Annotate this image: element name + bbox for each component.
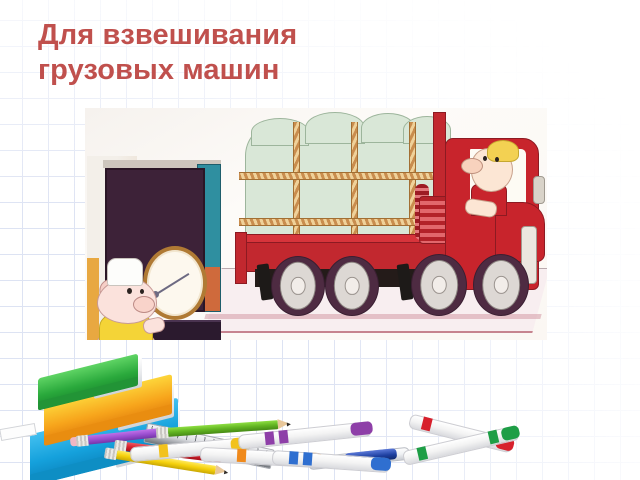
rope-vertical: [293, 122, 300, 248]
truck-wheel: [473, 254, 529, 316]
pencil-lead: [287, 422, 291, 426]
list-item: [38, 366, 138, 398]
rope-vertical: [351, 122, 358, 248]
pig-chef-hat: [107, 258, 143, 286]
marker-band: [303, 452, 313, 466]
wheel-hub: [280, 262, 316, 310]
marker-band: [488, 430, 500, 445]
pencil-ferrule: [156, 427, 169, 439]
truck-wheel: [271, 256, 325, 316]
truck-rear-post: [235, 232, 247, 284]
pencil-ferrule: [104, 447, 118, 460]
platform-shadow: [204, 314, 541, 319]
marker-band: [264, 431, 274, 445]
slide-canvas: Для взвешивания грузовых машин: [0, 0, 640, 480]
red-truck: [233, 114, 543, 314]
pig-operator: [91, 258, 165, 340]
pig-eye-right: [140, 289, 144, 294]
marker-cap: [371, 457, 392, 471]
marker-band: [289, 451, 299, 465]
marker-band: [416, 446, 428, 461]
pig-eye-left: [127, 288, 132, 294]
driver-eye-left: [483, 156, 487, 161]
marker-band: [278, 430, 288, 444]
stationery-strip: [150, 420, 640, 480]
wheel-hub: [334, 262, 370, 310]
driver-eye-right: [495, 157, 499, 162]
pencil-ferrule: [76, 435, 89, 447]
driver-hair: [487, 140, 519, 162]
pencil-lead: [224, 470, 229, 475]
marker-band: [158, 444, 168, 458]
rope-horizontal: [239, 172, 455, 180]
marker-band: [237, 449, 247, 462]
wheel-hub: [420, 260, 458, 310]
truck-wheel: [325, 256, 379, 316]
marker-cap: [500, 425, 520, 442]
driver-nose: [461, 158, 483, 174]
marker-cap: [350, 421, 373, 436]
mirror-arm: [533, 176, 545, 204]
marker-band: [421, 417, 433, 432]
truck-wheel: [411, 254, 467, 316]
truck-weighbridge-illustration: [85, 108, 547, 340]
wheel-hub: [482, 260, 520, 310]
cargo-bale-bump: [251, 118, 309, 146]
pig-snout: [133, 296, 155, 313]
page-title: Для взвешивания грузовых машин: [38, 18, 468, 89]
